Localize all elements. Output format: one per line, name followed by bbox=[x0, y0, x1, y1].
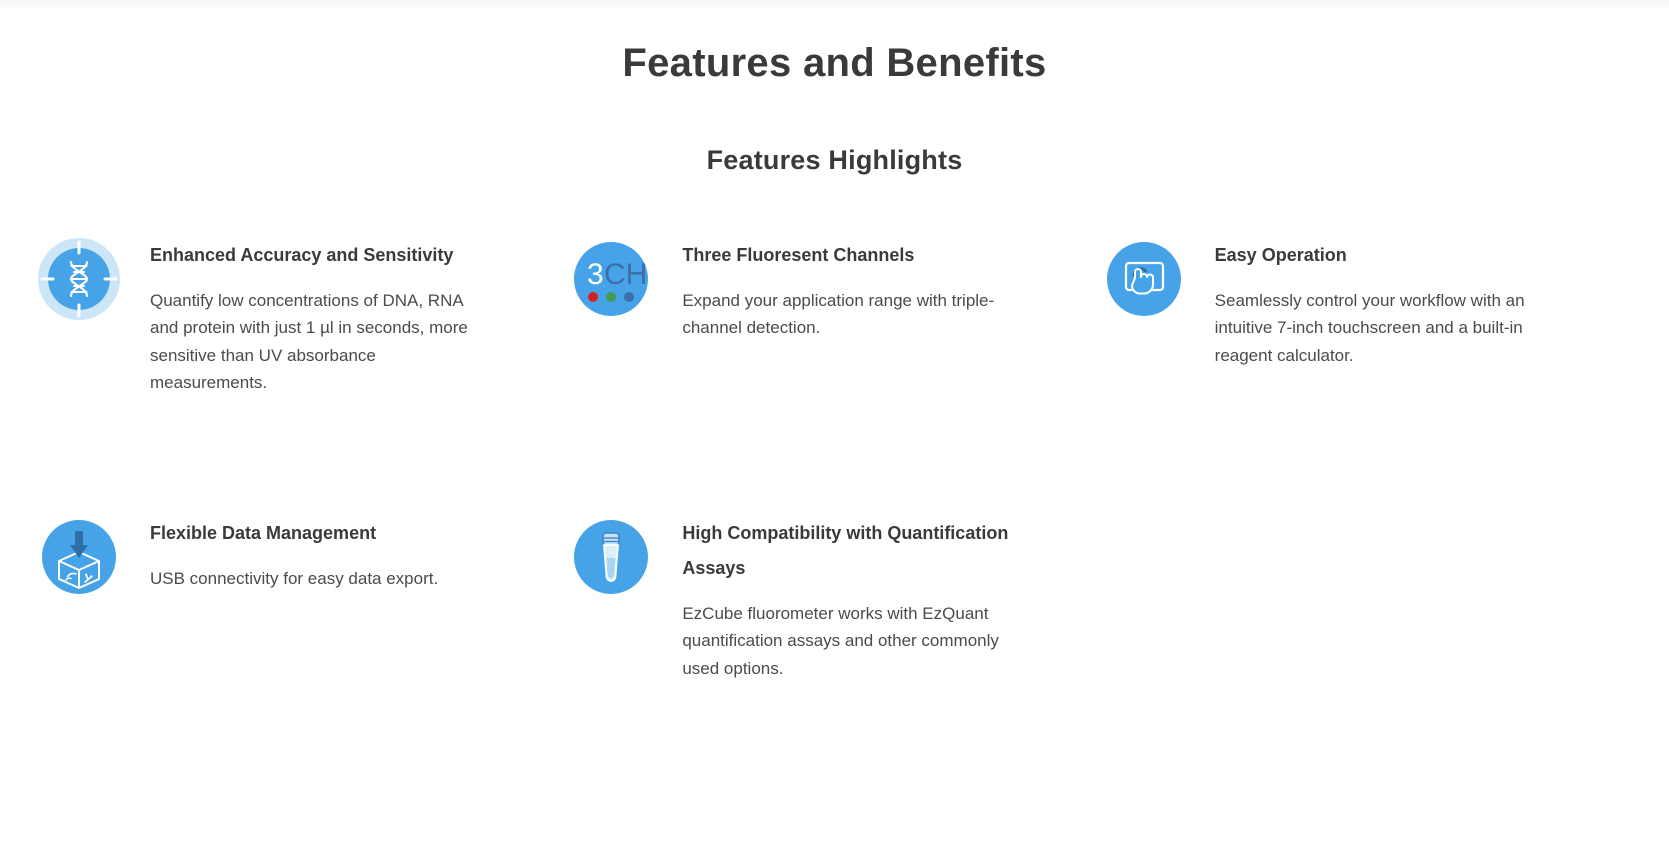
feature-description: USB connectivity for easy data export. bbox=[150, 565, 480, 593]
section-subtitle: Features Highlights bbox=[0, 144, 1669, 178]
feature-card-easy-operation: Easy Operation Seamlessly control your w… bbox=[1101, 236, 1633, 514]
feature-description: EzCube fluorometer works with EzQuant qu… bbox=[682, 600, 1012, 683]
data-export-box-icon bbox=[36, 514, 122, 600]
svg-text:CH: CH bbox=[604, 258, 647, 291]
three-channel-icon: 3 CH bbox=[568, 236, 654, 322]
feature-description: Quantify low concentrations of DNA, RNA … bbox=[150, 287, 480, 397]
feature-card-three-channels: 3 CH Three Fluoresent Channels Expand yo… bbox=[568, 236, 1100, 514]
feature-text: Easy Operation Seamlessly control your w… bbox=[1215, 236, 1545, 370]
feature-title: Easy Operation bbox=[1215, 238, 1545, 273]
feature-title: Enhanced Accuracy and Sensitivity bbox=[150, 238, 480, 273]
feature-text: Flexible Data Management USB connectivit… bbox=[150, 514, 480, 593]
touchscreen-hand-icon bbox=[1101, 236, 1187, 322]
feature-card-flexible-data: Flexible Data Management USB connectivit… bbox=[36, 514, 568, 792]
feature-text: Three Fluoresent Channels Expand your ap… bbox=[682, 236, 1012, 342]
features-and-benefits-section: Features and Benefits Features Highlight… bbox=[0, 0, 1669, 792]
feature-description: Expand your application range with tripl… bbox=[682, 287, 1012, 342]
feature-description: Seamlessly control your workflow with an… bbox=[1215, 287, 1545, 370]
feature-title: Flexible Data Management bbox=[150, 516, 480, 551]
svg-text:3: 3 bbox=[587, 258, 604, 291]
feature-title: High Compatibility with Quantification A… bbox=[682, 516, 1012, 586]
feature-title: Three Fluoresent Channels bbox=[682, 238, 1012, 273]
test-tube-icon bbox=[568, 514, 654, 600]
feature-card-high-compatibility: High Compatibility with Quantification A… bbox=[568, 514, 1100, 792]
features-grid: Enhanced Accuracy and Sensitivity Quanti… bbox=[0, 236, 1669, 792]
feature-text: High Compatibility with Quantification A… bbox=[682, 514, 1012, 683]
dna-target-icon bbox=[36, 236, 122, 322]
feature-text: Enhanced Accuracy and Sensitivity Quanti… bbox=[150, 236, 480, 397]
page-title: Features and Benefits bbox=[0, 38, 1669, 88]
feature-card-enhanced-accuracy: Enhanced Accuracy and Sensitivity Quanti… bbox=[36, 236, 568, 514]
feature-grid-empty-cell bbox=[1101, 514, 1633, 792]
